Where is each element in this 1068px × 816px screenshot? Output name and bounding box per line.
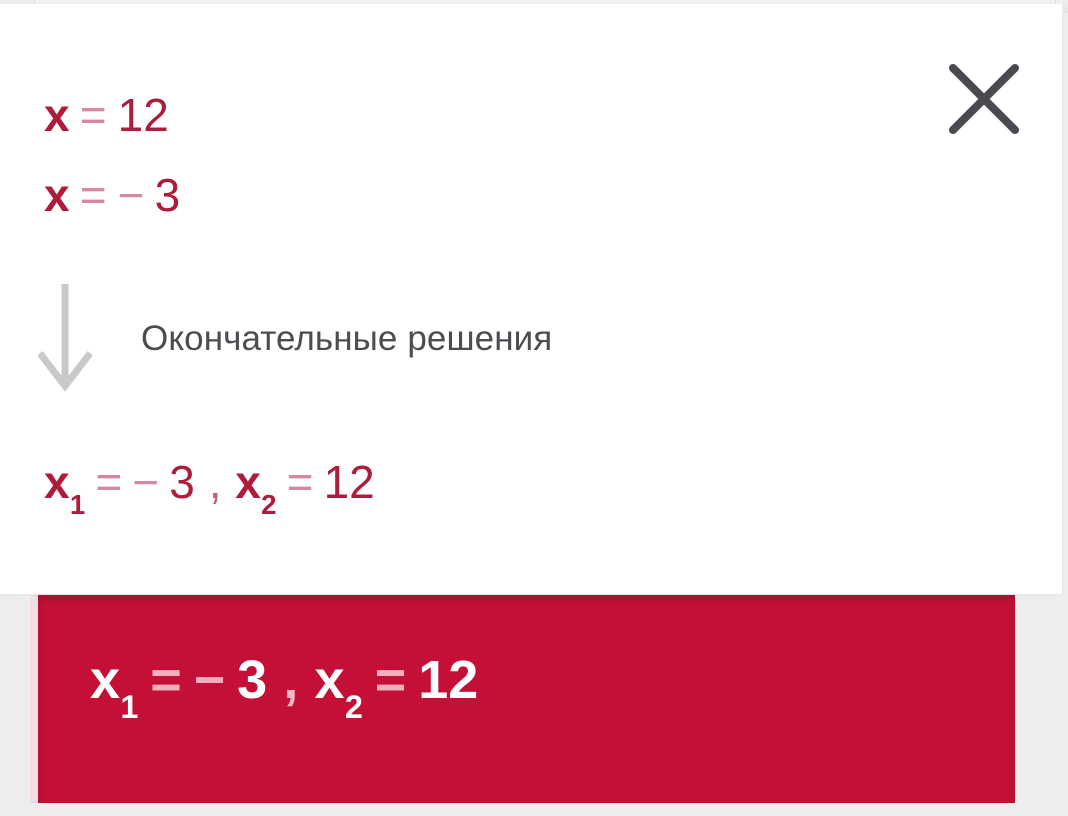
final-root2-subscript: 2 bbox=[261, 489, 276, 520]
close-button[interactable] bbox=[941, 56, 1027, 142]
answer-root1-variable: x bbox=[90, 650, 120, 710]
step-2-sign: − bbox=[118, 169, 145, 221]
answer-root1-value: 3 bbox=[237, 650, 267, 710]
final-root2-value: 12 bbox=[324, 456, 375, 508]
final-root1-variable: x bbox=[44, 456, 70, 508]
answer-root2-equals: = bbox=[375, 650, 407, 710]
answer-root1-sign: − bbox=[194, 650, 226, 710]
final-root1-equals: = bbox=[95, 456, 122, 508]
step-1-value: 12 bbox=[118, 89, 169, 141]
final-root1-sign: − bbox=[132, 456, 159, 508]
answer-root2-value: 12 bbox=[418, 650, 478, 710]
step-1-variable: x bbox=[44, 89, 70, 141]
page-root: x=12 x=−3 Окончательные решения x1=−3,x2… bbox=[0, 0, 1068, 816]
step-equation-1: x=12 bbox=[44, 92, 169, 138]
answer-root1-subscript: 1 bbox=[120, 689, 138, 725]
final-separator: , bbox=[209, 456, 222, 508]
step-1-equals: = bbox=[80, 89, 108, 141]
final-root2-variable: x bbox=[235, 456, 261, 508]
answer-root2-variable: x bbox=[315, 650, 345, 710]
answer-root1-equals: = bbox=[150, 650, 182, 710]
step-2-variable: x bbox=[44, 169, 70, 221]
final-solution-expression: x1=−3,x2=12 bbox=[44, 459, 375, 513]
answer-root2-subscript: 2 bbox=[345, 689, 363, 725]
final-root1-subscript: 1 bbox=[70, 489, 85, 520]
close-icon bbox=[941, 56, 1027, 142]
step-2-equals: = bbox=[80, 169, 108, 221]
final-root1-value: 3 bbox=[169, 456, 195, 508]
final-root2-equals: = bbox=[287, 456, 314, 508]
step-2-value: 3 bbox=[155, 169, 181, 221]
answer-expression: x1=−3,x2=12 bbox=[90, 653, 478, 715]
banner-left-gutter bbox=[30, 595, 38, 803]
answer-separator: , bbox=[283, 650, 298, 710]
arrow-down-icon bbox=[38, 282, 92, 392]
final-solutions-caption: Окончательные решения bbox=[141, 319, 552, 359]
step-equation-2: x=−3 bbox=[44, 172, 180, 218]
answer-banner: x1=−3,x2=12 bbox=[38, 595, 1015, 803]
solution-card: x=12 x=−3 Окончательные решения x1=−3,x2… bbox=[0, 4, 1063, 595]
